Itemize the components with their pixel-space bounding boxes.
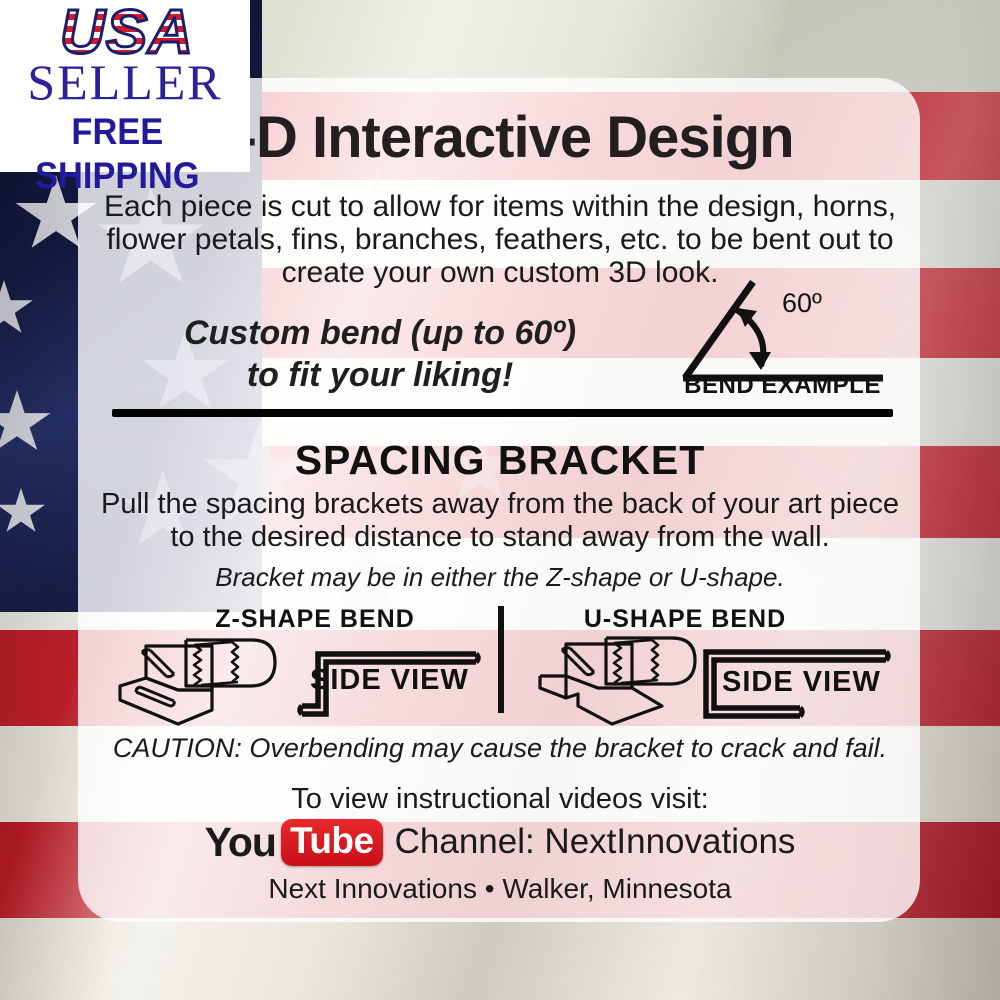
u-side-view-label: SIDE VIEW bbox=[722, 666, 881, 699]
flag-star bbox=[0, 488, 46, 536]
screenshot-root: 3-D Interactive Design Each piece is cut… bbox=[0, 0, 1000, 1000]
shapes-vertical-divider bbox=[498, 606, 504, 713]
bracket-shape-note: Bracket may be in either the Z-shape or … bbox=[100, 562, 900, 593]
youtube-logo-you: You bbox=[205, 819, 276, 866]
section-divider bbox=[112, 409, 893, 417]
bend-example-caption: BEND EXAMPLE bbox=[675, 372, 890, 400]
section-paragraph: Pull the spacing brackets away from the … bbox=[100, 488, 900, 554]
youtube-logo[interactable]: You Tube bbox=[205, 818, 383, 866]
videos-prompt: To view instructional videos visit: bbox=[100, 783, 900, 816]
flag-stripe bbox=[0, 918, 1000, 1000]
intro-paragraph: Each piece is cut to allow for items wit… bbox=[100, 190, 900, 289]
badge-seller-text: SELLER bbox=[0, 56, 250, 108]
usa-seller-badge: USA SELLER FREE SHIPPING bbox=[0, 0, 250, 172]
custom-bend-callout: Custom bend (up to 60º) to fit your liki… bbox=[110, 312, 650, 396]
flag-star bbox=[0, 280, 34, 338]
company-location: Next Innovations • Walker, Minnesota bbox=[100, 873, 900, 905]
youtube-logo-tube: Tube bbox=[281, 819, 383, 866]
caution-text: CAUTION: Overbending may cause the brack… bbox=[80, 733, 920, 764]
youtube-channel-text: Channel: NextInnovations bbox=[395, 822, 796, 862]
custom-bend-line-2: to fit your liking! bbox=[110, 354, 650, 396]
section-heading: SPACING BRACKET bbox=[0, 437, 1000, 484]
bend-angle-label: 60º bbox=[782, 288, 822, 319]
z-side-view-label: SIDE VIEW bbox=[310, 664, 469, 697]
custom-bend-line-1: Custom bend (up to 60º) bbox=[110, 312, 650, 354]
youtube-row: You Tube Channel: NextInnovations bbox=[0, 818, 1000, 866]
badge-free-shipping-text: FREE SHIPPING bbox=[2, 110, 233, 154]
